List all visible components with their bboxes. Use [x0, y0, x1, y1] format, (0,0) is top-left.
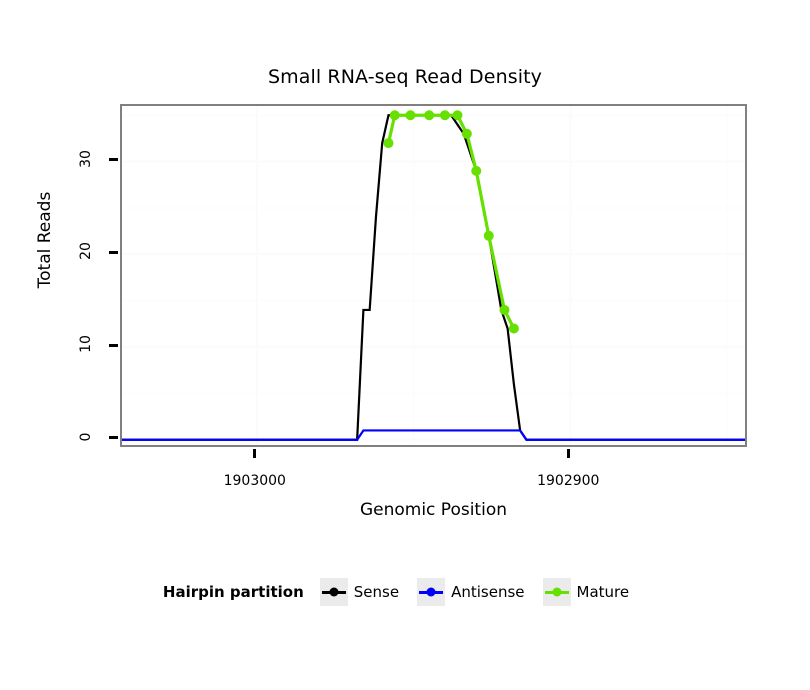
data-point-mature [462, 129, 472, 139]
series-line-mature [388, 115, 513, 328]
legend-key-dot [329, 588, 338, 597]
series-line-antisense [122, 430, 747, 439]
data-point-mature [440, 110, 450, 120]
data-point-mature [424, 110, 434, 120]
y-tick-mark [109, 251, 118, 254]
legend-label: Antisense [451, 583, 524, 601]
x-tick-label: 1903000 [195, 473, 315, 489]
data-point-mature [452, 110, 462, 120]
y-tick-label: 0 [78, 417, 94, 457]
legend-entry-sense[interactable]: Sense [320, 578, 409, 606]
legend-key-sense-icon [320, 578, 348, 606]
legend-title: Hairpin partition [163, 583, 304, 601]
legend-entries: SenseAntisenseMature [320, 578, 647, 606]
data-point-mature [405, 110, 415, 120]
chart-figure: Small RNA-seq Read Density Total Reads G… [0, 0, 810, 690]
y-tick-label: 10 [78, 324, 94, 364]
y-axis-title: Total Reads [35, 160, 55, 320]
x-axis-title: Genomic Position [120, 500, 747, 520]
y-tick-mark [109, 158, 118, 161]
legend-key-mature-icon [543, 578, 571, 606]
legend-key-dot [427, 588, 436, 597]
x-tick-mark [567, 449, 570, 458]
x-tick-label: 1902900 [508, 473, 628, 489]
plot-svg [122, 106, 747, 447]
page-title: Small RNA-seq Read Density [0, 66, 810, 88]
legend-key-dot [552, 588, 561, 597]
y-tick-label: 30 [78, 139, 94, 179]
y-tick-mark [109, 436, 118, 439]
data-point-mature [484, 231, 494, 241]
legend: Hairpin partition SenseAntisenseMature [0, 578, 810, 606]
legend-label: Mature [577, 583, 630, 601]
plot-area [122, 106, 745, 445]
legend-label: Sense [354, 583, 399, 601]
legend-entry-mature[interactable]: Mature [543, 578, 640, 606]
data-point-mature [390, 110, 400, 120]
plot-panel [120, 104, 747, 447]
data-point-mature [383, 138, 393, 148]
x-tick-mark [253, 449, 256, 458]
legend-key-antisense-icon [417, 578, 445, 606]
data-point-mature [471, 166, 481, 176]
data-point-mature [509, 323, 519, 333]
y-tick-label: 20 [78, 231, 94, 271]
legend-entry-antisense[interactable]: Antisense [417, 578, 534, 606]
data-point-mature [499, 305, 509, 315]
series-line-sense [122, 115, 747, 439]
y-tick-mark [109, 344, 118, 347]
